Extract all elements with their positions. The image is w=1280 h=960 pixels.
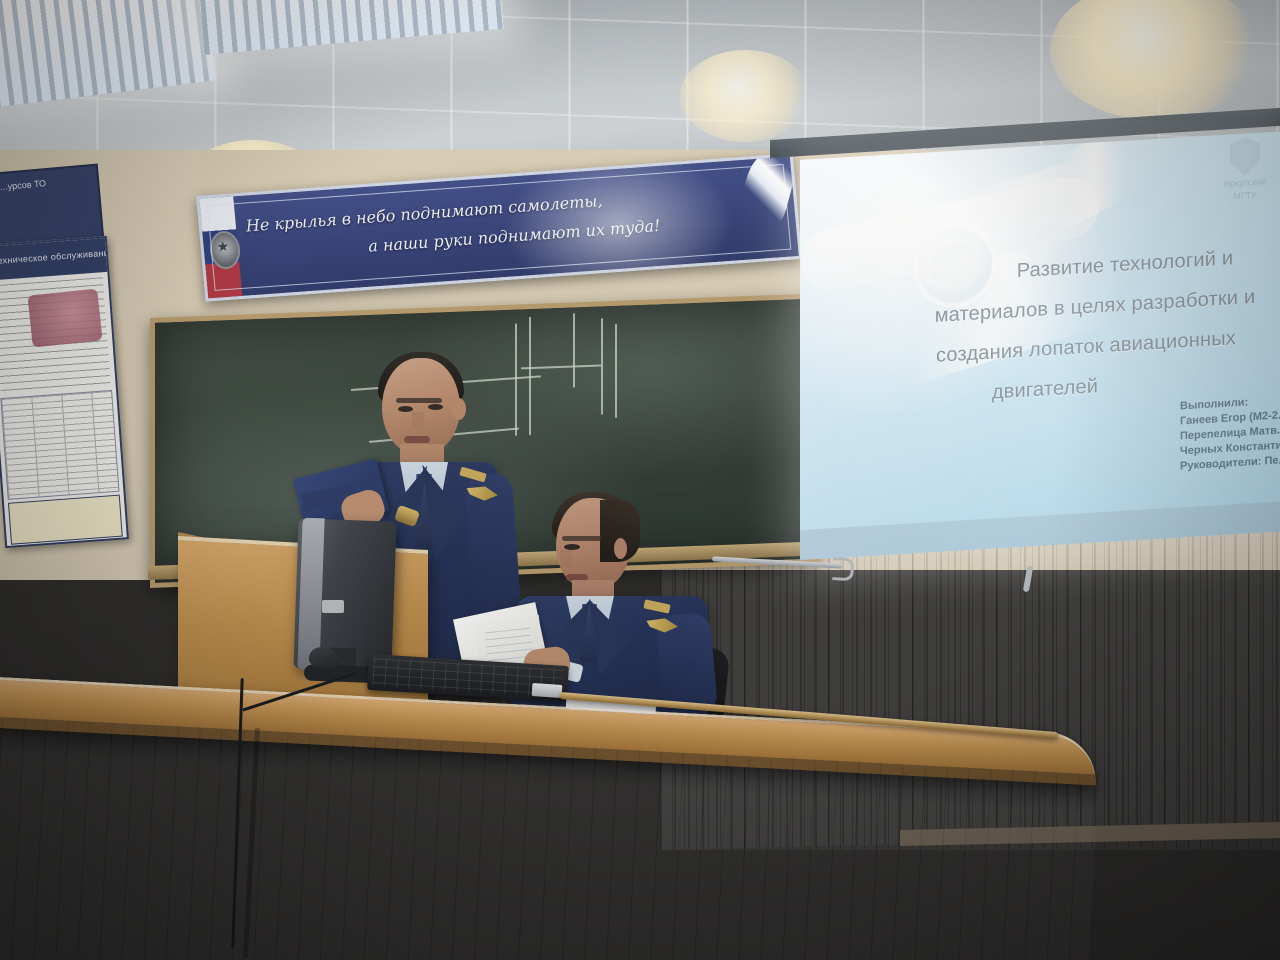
presenter1-eye-right: [428, 404, 443, 410]
presenter2-ear: [614, 538, 627, 559]
slide-title: Развитие технологий и материалов в целях…: [800, 235, 1280, 424]
poster-header-text: ...урсов ТО: [0, 166, 98, 202]
wall-poster-main: Техническое обслуживание АТ: [0, 236, 129, 548]
photo-scene: ...урсов ТО Техническое обслуживание АТ …: [0, 0, 1280, 960]
presenter1-nose: [412, 412, 424, 430]
chalk-mark: [573, 313, 575, 387]
monitor-label: [322, 600, 344, 613]
coat-of-arms-icon: [1230, 137, 1260, 177]
presenter2-brow: [562, 536, 602, 541]
poster-illustration-strip: [8, 495, 123, 545]
ceiling-downlight-center: [680, 50, 810, 142]
university-logo: Иркутский МГТУ: [1216, 136, 1274, 203]
presenter1-ear: [452, 398, 466, 420]
projection-screen: Развитие технологий и материалов в целях…: [800, 131, 1280, 560]
presenter2-nose: [560, 550, 572, 568]
usb-flash-drive[interactable]: [532, 683, 563, 698]
poster-table: [0, 390, 119, 500]
wall-decal: [27, 288, 102, 347]
logo-line-2: МГТУ: [1216, 189, 1274, 203]
logo-line-1: Иркутский: [1216, 176, 1274, 190]
chalk-mark: [515, 324, 517, 436]
poster-title-text: Техническое обслуживание АТ: [0, 238, 106, 267]
chalk-mark: [601, 318, 603, 414]
slide-authors: Выполнили: Ганеев Егор (М2-2... Перепели…: [1180, 388, 1280, 475]
presenter1-brow: [396, 398, 442, 403]
presenter1-mouth: [404, 436, 430, 443]
poster-title-bar: Техническое обслуживание АТ: [0, 238, 107, 281]
presenter1-eye-left: [398, 406, 413, 412]
chalk-mark: [615, 324, 617, 418]
